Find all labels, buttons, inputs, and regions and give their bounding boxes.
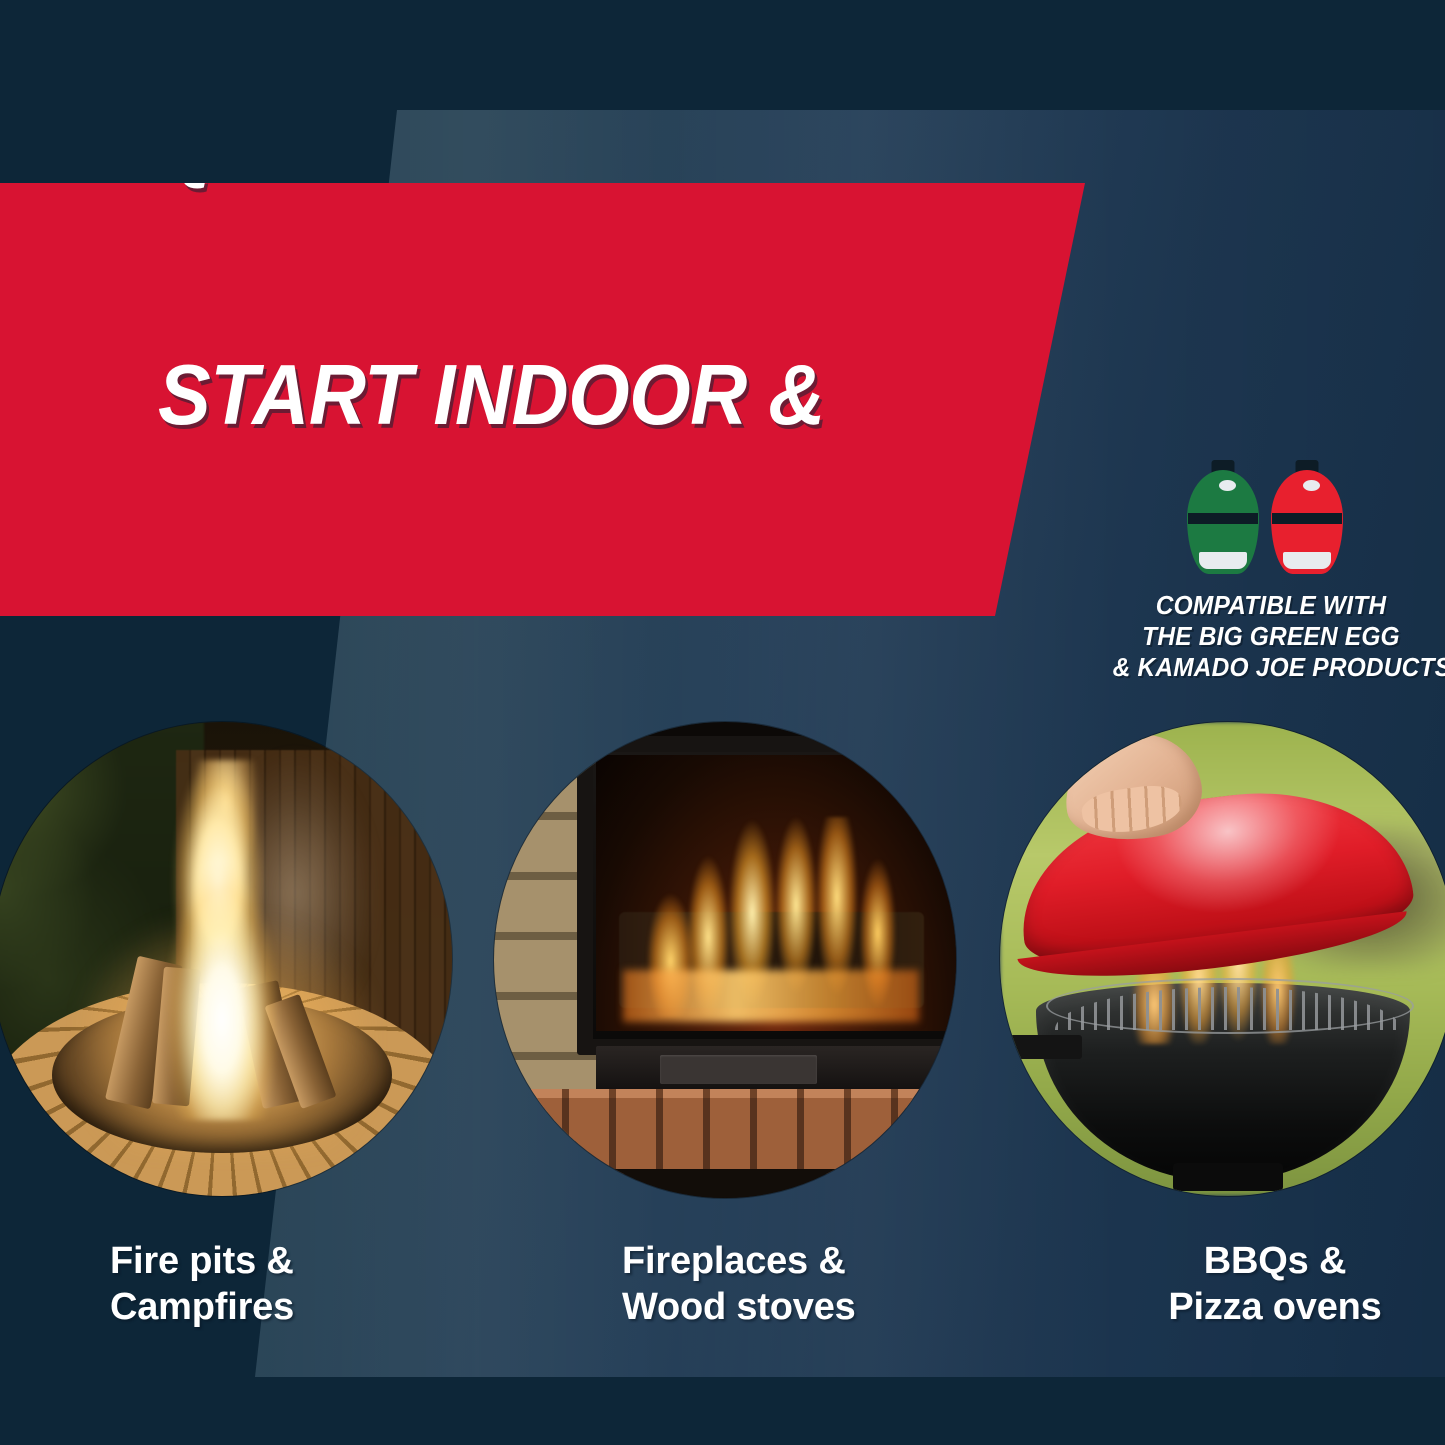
kamado-grill-green-icon [1187, 460, 1259, 578]
fireplace-scene [494, 722, 956, 1198]
fire-pit-photo [0, 722, 452, 1196]
kamado-red-gauge [1303, 480, 1320, 491]
fire-pit-scene [0, 722, 452, 1196]
kamado-green-band [1188, 513, 1258, 524]
caption-fireplaces: Fireplaces & Wood stoves [622, 1238, 856, 1331]
fireplace-hearth-bricks [522, 1098, 956, 1174]
bbq-grill-photo [1000, 722, 1445, 1196]
caption-fire-pits: Fire pits & Campfires [110, 1238, 294, 1331]
kamado-green-gauge [1219, 480, 1236, 491]
fire-pit-flame [130, 760, 314, 1120]
fireplace-floor [494, 1169, 956, 1198]
caption-bbqs-line-1: BBQs & [1168, 1238, 1381, 1284]
caption-fireplaces-line-1: Fireplaces & [622, 1238, 856, 1284]
bbq-side-handle [1009, 1035, 1082, 1059]
kamado-green-vent [1199, 552, 1247, 569]
compatibility-line-2: THE BIG GREEN EGG [1113, 622, 1430, 653]
caption-bbqs-line-2: Pizza ovens [1168, 1284, 1381, 1330]
compatibility-line-1: COMPATIBLE WITH [1113, 591, 1430, 622]
headline-line-2: START INDOOR & [158, 354, 880, 438]
kamado-icons-group [1187, 452, 1355, 582]
kamado-red-band [1272, 513, 1342, 524]
caption-fire-pits-line-1: Fire pits & [110, 1238, 294, 1284]
compatibility-line-3: & KAMADO JOE PRODUCTS [1113, 653, 1430, 684]
bbq-grate-rim [1046, 978, 1415, 1034]
caption-fireplaces-line-2: Wood stoves [622, 1284, 856, 1330]
infographic-canvas: QUICKLY & EASILY START INDOOR & OUTDOOR … [0, 0, 1445, 1445]
bbq-scene [1000, 722, 1445, 1196]
compatibility-text: COMPATIBLE WITH THE BIG GREEN EGG & KAMA… [1113, 591, 1430, 684]
fireplace-vent-slot [660, 1055, 817, 1084]
kamado-grill-red-icon [1271, 460, 1343, 578]
fireplace-embers [623, 970, 919, 1022]
bbq-leg [1173, 1163, 1282, 1191]
fireplace-photo [494, 722, 956, 1198]
headline-banner: QUICKLY & EASILY START INDOOR & OUTDOOR … [0, 183, 1085, 616]
kamado-red-vent [1283, 552, 1331, 569]
compatibility-badge: COMPATIBLE WITH THE BIG GREEN EGG & KAMA… [1106, 452, 1436, 684]
caption-bbqs: BBQs & Pizza ovens [1168, 1238, 1381, 1331]
caption-fire-pits-line-2: Campfires [110, 1284, 294, 1330]
